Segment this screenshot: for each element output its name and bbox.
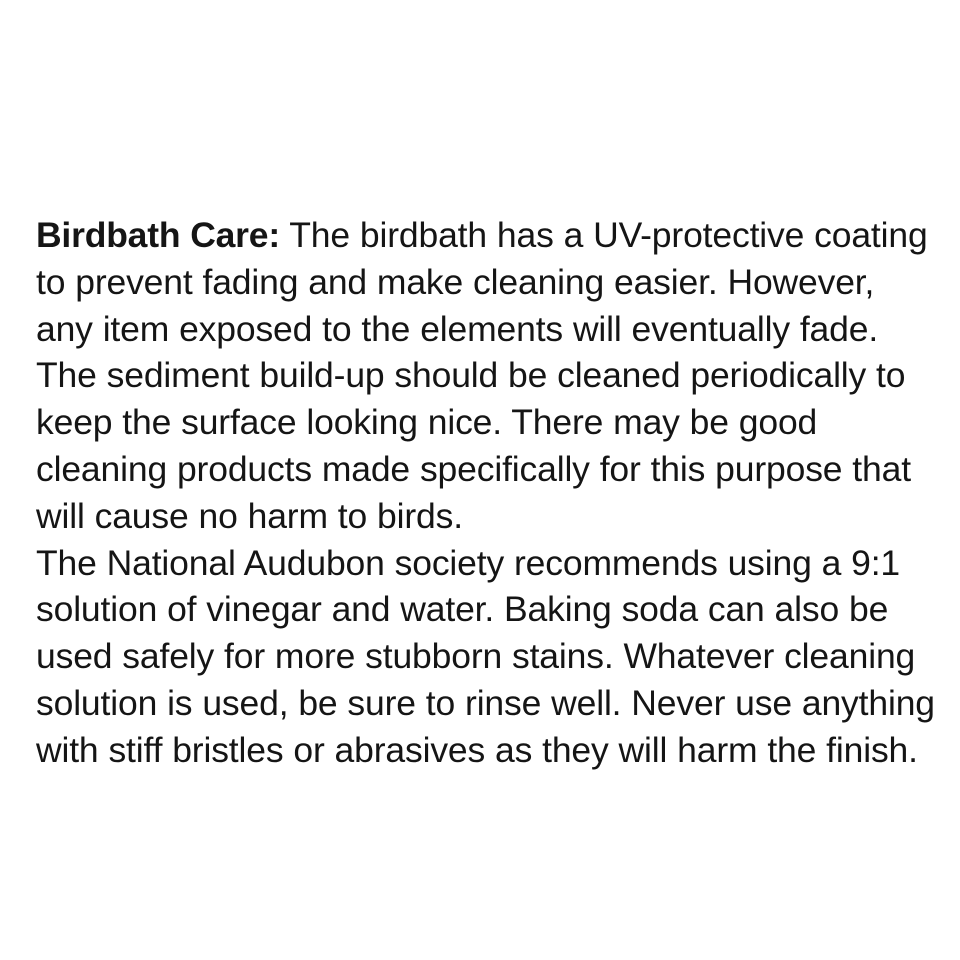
text-line: used safely for more stubborn stains. Wh… [36,633,938,680]
text-line: solution is used, be sure to rinse well.… [36,680,938,727]
text-line: will cause no harm to birds. [36,493,938,540]
text-line: solution of vinegar and water. Baking so… [36,586,938,633]
text-line: any item exposed to the elements will ev… [36,306,938,353]
text-line: Birdbath Care: The birdbath has a UV-pro… [36,212,938,259]
text-line: The sediment build-up should be cleaned … [36,352,938,399]
text-line: cleaning products made specifically for … [36,446,938,493]
text-line-remainder: The birdbath has a UV-protective coating [280,215,928,255]
text-line: to prevent fading and make cleaning easi… [36,259,938,306]
text-line: The National Audubon society recommends … [36,540,938,587]
care-instructions-text: Birdbath Care: The birdbath has a UV-pro… [36,212,938,774]
audubon-cleaning-paragraph: The National Audubon society recommends … [36,540,938,774]
birdbath-care-paragraph: Birdbath Care: The birdbath has a UV-pro… [36,212,938,540]
document-page: Birdbath Care: The birdbath has a UV-pro… [0,0,960,960]
text-line: with stiff bristles or abrasives as they… [36,727,938,774]
text-line: keep the surface looking nice. There may… [36,399,938,446]
birdbath-care-label: Birdbath Care: [36,215,280,255]
